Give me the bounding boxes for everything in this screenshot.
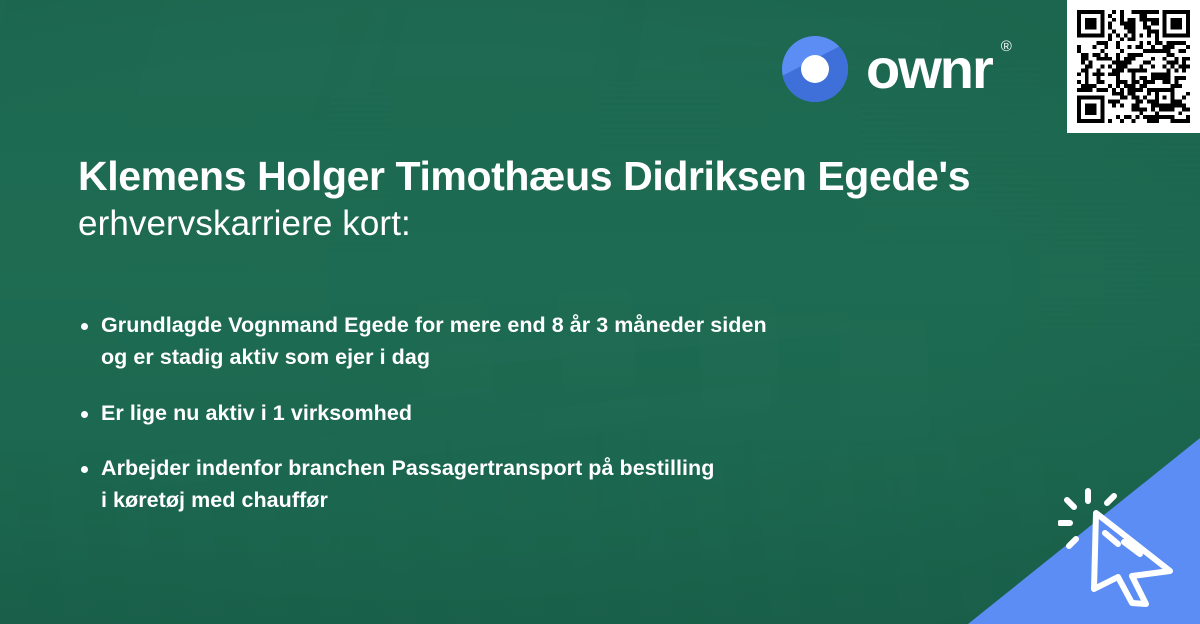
bullet-dot-icon (81, 466, 88, 473)
business-card-image: ownr ® Klemens Holger Timothæus Didrikse… (0, 0, 1200, 624)
list-item-line-1: Grundlagde Vognmand Egede for mere end 8… (101, 310, 767, 342)
bullet-dot-icon (81, 323, 88, 330)
ownr-wordmark: ownr ® (866, 41, 992, 97)
ownr-wordmark-text: ownr (866, 37, 992, 100)
ownr-circle-logo-icon (782, 36, 848, 102)
list-item-text: Arbejder indenfor branchen Passagertrans… (101, 453, 714, 517)
list-item-line-1: Arbejder indenfor branchen Passagertrans… (101, 453, 714, 485)
headline-line-2: erhvervskarriere kort: (78, 202, 1088, 247)
list-item-line-2: i køretøj med chauffør (101, 485, 714, 517)
list-item: Grundlagde Vognmand Egede for mere end 8… (78, 310, 1068, 374)
career-facts-list: Grundlagde Vognmand Egede for mere end 8… (78, 310, 1068, 541)
ownr-logo[interactable]: ownr ® (782, 36, 992, 102)
qr-code-panel[interactable] (1067, 0, 1200, 133)
list-item-line-2: og er stadig aktiv som ejer i dag (101, 342, 767, 374)
bullet-dot-icon (81, 411, 88, 418)
list-item: Er lige nu aktiv i 1 virksomhed (78, 398, 1068, 430)
qr-code-icon[interactable] (1077, 10, 1190, 123)
list-item: Arbejder indenfor branchen Passagertrans… (78, 453, 1068, 517)
page-title: Klemens Holger Timothæus Didriksen Egede… (78, 152, 1088, 247)
list-item-text: Grundlagde Vognmand Egede for mere end 8… (101, 310, 767, 374)
list-item-line-1: Er lige nu aktiv i 1 virksomhed (101, 398, 412, 430)
headline-line-1: Klemens Holger Timothæus Didriksen Egede… (78, 152, 1088, 200)
registered-trademark-icon: ® (1001, 39, 1012, 54)
list-item-text: Er lige nu aktiv i 1 virksomhed (101, 398, 412, 430)
